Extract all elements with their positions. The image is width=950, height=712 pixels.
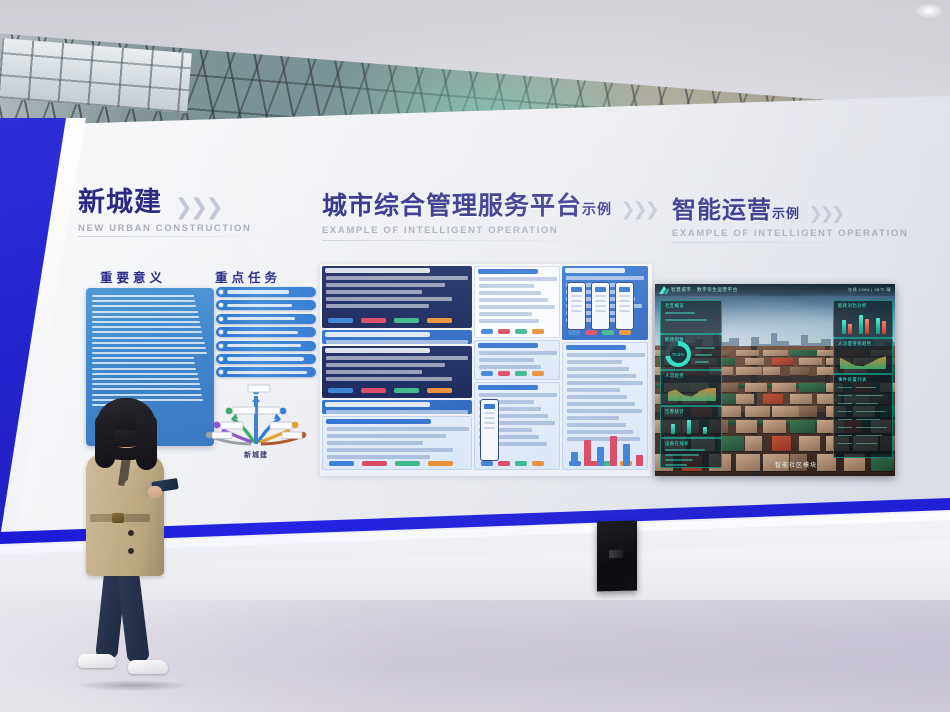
text-line	[92, 352, 207, 354]
phone-line	[619, 295, 630, 297]
text-line	[92, 326, 201, 328]
tile-content-row	[326, 276, 468, 280]
tile-chip	[568, 330, 580, 335]
task-list-item	[216, 327, 316, 337]
city-block	[790, 367, 809, 375]
tile-content-row	[567, 430, 633, 434]
population-area-chart	[840, 353, 886, 369]
tile-content-row	[567, 423, 626, 427]
widget-energy-comparison: 能耗对比分析	[833, 300, 893, 338]
phone-line	[571, 305, 582, 307]
tile-chip	[515, 371, 527, 376]
tile-content-row	[479, 351, 557, 355]
tile-chip	[481, 371, 493, 376]
mini-bar	[623, 444, 630, 466]
event-row-desc	[856, 411, 885, 412]
widget-title: 社区概览	[665, 303, 684, 309]
widget-traffic-flow: 人流趋势	[660, 370, 722, 406]
tile-content-row	[567, 395, 627, 399]
tile-chip	[619, 330, 631, 335]
task-list-item	[216, 314, 316, 324]
mini-bar	[610, 436, 617, 466]
tile-content-row	[326, 356, 468, 360]
gauge-legend-row	[695, 354, 712, 356]
text-line	[92, 383, 200, 385]
tile-title-bar	[325, 348, 430, 353]
widget-title: 告警统计	[665, 409, 684, 415]
phone-line	[571, 295, 582, 297]
traffic-area-chart	[668, 385, 716, 401]
arrow-roadmap-diagram: 新城建	[196, 382, 316, 460]
heading-divider	[78, 236, 278, 237]
event-row-time	[838, 419, 852, 420]
tile-title-bar	[325, 402, 430, 407]
tile-chip	[532, 461, 544, 466]
event-row-time	[838, 435, 852, 436]
phone-line	[484, 412, 495, 414]
tile-content-row	[479, 365, 541, 369]
stage-speaker	[597, 520, 637, 591]
board-tile-integrated-management-platform-overview	[474, 340, 560, 380]
device-row	[665, 459, 693, 461]
tile-chip	[427, 318, 452, 323]
tile-chip	[532, 329, 544, 334]
metric-row	[665, 319, 707, 321]
phone-line	[484, 417, 495, 419]
tile-content-row	[479, 393, 557, 397]
heading-en-text: NEW URBAN CONSTRUCTION	[78, 223, 251, 234]
section-title-key-tasks: 重点任务	[215, 267, 281, 286]
tile-content-row	[326, 297, 452, 301]
energy-bar	[848, 324, 852, 334]
ceiling-spotlight-icon	[916, 4, 942, 18]
alarm-bar	[687, 420, 691, 434]
energy-bar	[842, 320, 846, 334]
energy-bar	[882, 321, 886, 334]
tile-content-row	[567, 416, 619, 420]
tile-content-row	[479, 298, 548, 302]
city-block	[736, 420, 757, 433]
event-row-desc	[856, 395, 883, 396]
widget-title: 事件处置列表	[838, 377, 867, 383]
city-block	[790, 350, 817, 356]
person-hair-left	[95, 414, 115, 468]
gauge-value: 76.5%	[665, 341, 691, 367]
phone-line	[619, 300, 630, 302]
widget-title: 人流量变化趋势	[838, 341, 872, 347]
tile-content-row	[567, 409, 642, 413]
city-block	[799, 383, 825, 392]
tile-content-row	[479, 305, 555, 309]
device-row	[665, 454, 699, 456]
phone-line	[595, 305, 606, 307]
text-line	[92, 388, 201, 390]
gauge-legend-row	[695, 347, 715, 349]
dashboard-status-text: 在线 1284 | 28℃ 晴	[848, 287, 891, 293]
event-row-time	[838, 411, 852, 412]
tile-chip	[328, 388, 353, 393]
tile-chip	[428, 461, 453, 466]
tile-chip	[532, 371, 544, 376]
event-row-desc	[856, 435, 882, 436]
roadmap-arrows-icon	[196, 382, 316, 452]
person-hair-right	[136, 414, 157, 470]
tile-content-row	[567, 360, 622, 364]
mini-bar	[597, 447, 604, 466]
heading-divider	[322, 240, 612, 241]
text-line	[92, 321, 200, 323]
tile-content-row	[479, 312, 532, 316]
phone-mockup	[567, 282, 586, 330]
city-block	[799, 436, 820, 451]
tile-chip	[395, 461, 420, 466]
text-line	[92, 368, 196, 370]
board-tile-data-statistics-panel	[562, 342, 648, 470]
phone-line	[619, 310, 630, 312]
tile-chip	[585, 330, 597, 335]
gauge-legend-row	[695, 361, 709, 363]
chevron-right-icon: ❯❯❯	[808, 204, 842, 224]
widget-title: 能耗对比分析	[838, 303, 867, 309]
phone-line	[571, 310, 582, 312]
heading-en-text: EXAMPLE OF INTELLIGENT OPERATION	[322, 225, 657, 236]
city-block	[736, 350, 759, 356]
board-tile-mobile-service-platform	[562, 266, 648, 340]
tile-chip	[362, 461, 387, 466]
platform-logo-icon	[659, 286, 669, 294]
task-list-item	[216, 354, 316, 364]
tile-title-bar	[565, 268, 625, 273]
led-dashboard-screen: 智慧城市 · 数字孪生运营平台 在线 1284 | 28℃ 晴 社区概览能耗指数…	[655, 284, 895, 476]
text-line	[92, 295, 194, 297]
phone-mockup	[591, 282, 610, 330]
person-coat-button	[128, 548, 134, 554]
tile-content-row	[326, 370, 422, 374]
tile-content-row	[479, 358, 534, 362]
text-line	[92, 378, 199, 380]
tile-content-row	[326, 340, 468, 344]
tile-content-row	[326, 377, 452, 381]
task-list-item	[216, 367, 316, 377]
board-tile-smart-city-operation-center	[474, 266, 560, 338]
section-title-significance: 重要意义	[100, 267, 166, 286]
tile-title-bar	[478, 343, 538, 348]
board-tile-framework-diagram	[322, 266, 472, 328]
screen-caption: 智能社区模块	[775, 460, 817, 469]
heading-new-urban-construction: 新城建 ❯❯❯ NEW URBAN CONSTRUCTION	[78, 180, 251, 234]
phone-mockup	[480, 399, 499, 461]
tile-content-row	[479, 319, 539, 323]
city-block	[772, 358, 793, 365]
tile-content-row	[567, 402, 635, 406]
city-block	[799, 406, 817, 417]
heading-intelligent-operation: 智能运营示例 ❯❯❯ EXAMPLE OF INTELLIGENT OPERAT…	[672, 190, 908, 239]
person-leg-front	[116, 565, 150, 663]
widget-event-list: 事件处置列表	[833, 374, 893, 458]
city-block	[790, 420, 815, 433]
text-line	[92, 300, 195, 302]
heading-divider	[672, 242, 894, 243]
phone-line	[484, 422, 495, 424]
heading-city-management-platform: 城市综合管理服务平台示例 ❯❯❯ EXAMPLE OF INTELLIGENT …	[322, 186, 657, 236]
event-row-time	[838, 443, 852, 444]
mini-bar	[571, 452, 578, 466]
tile-title-bar	[566, 345, 626, 350]
tile-title-bar	[478, 385, 538, 390]
event-row-desc	[856, 387, 876, 388]
tile-chip	[427, 388, 452, 393]
task-list-item	[216, 300, 316, 310]
tile-chip	[498, 329, 510, 334]
event-row-time	[838, 403, 852, 404]
widget-alarm-statistics: 告警统计	[660, 406, 722, 438]
city-block	[763, 367, 780, 375]
tile-chip	[329, 461, 354, 466]
diagram-center-label: 新城建	[196, 450, 316, 460]
alarm-bar	[703, 427, 707, 434]
tile-content-row	[326, 283, 445, 287]
energy-bar	[859, 315, 863, 334]
tile-chip	[481, 329, 493, 334]
city-block	[736, 367, 762, 375]
widget-device-status: 设备在线率	[660, 438, 722, 468]
text-line	[92, 362, 195, 364]
energy-bar	[865, 319, 869, 334]
phone-line	[571, 300, 582, 302]
tile-chip	[361, 388, 386, 393]
chevron-right-icon: ❯❯❯	[620, 199, 656, 220]
visitor-person	[70, 398, 185, 690]
tile-content-row	[479, 284, 534, 288]
text-line	[92, 394, 202, 396]
person-shadow	[76, 680, 192, 691]
tile-content-row	[327, 441, 423, 445]
city-block	[772, 406, 799, 417]
city-block	[745, 358, 764, 365]
city-block	[745, 383, 767, 392]
text-line	[92, 305, 196, 307]
event-row-time	[838, 387, 852, 388]
tile-content-row	[326, 304, 429, 308]
tile-chip	[498, 461, 510, 466]
text-line	[92, 373, 198, 375]
task-list-item	[216, 287, 316, 297]
person-coat-button	[128, 530, 134, 536]
mini-bar	[584, 440, 591, 466]
city-block	[763, 420, 786, 433]
energy-gauge-icon: 76.5%	[665, 341, 691, 367]
alarm-bar	[671, 424, 675, 434]
tile-content-row	[326, 290, 422, 294]
speaker-badge-icon	[609, 550, 623, 558]
text-line	[92, 347, 206, 349]
tile-content-row	[567, 367, 629, 371]
widget-community-overview: 社区概览	[660, 300, 722, 334]
tile-content-row	[567, 374, 636, 378]
phone-line	[595, 310, 606, 312]
tile-content-row	[327, 448, 453, 452]
person-hand	[148, 486, 162, 498]
city-block	[763, 394, 783, 404]
heading-cn-suffix: 示例	[772, 206, 800, 221]
tile-content-row	[566, 276, 644, 280]
phone-line	[595, 300, 606, 302]
city-block	[745, 406, 770, 417]
board-tile-command-console	[322, 346, 472, 398]
tile-chip	[394, 388, 419, 393]
widget-energy-gauge: 能耗指数76.5%	[660, 334, 722, 370]
key-tasks-list	[216, 287, 316, 381]
tile-chip	[515, 461, 527, 466]
tile-content-row	[326, 363, 445, 367]
tile-content-row	[326, 410, 468, 414]
tile-chip	[498, 371, 510, 376]
tile-content-row	[479, 277, 557, 281]
text-line	[92, 342, 205, 344]
tile-content-row	[327, 434, 446, 438]
phone-line	[595, 295, 606, 297]
board-tile-one-network-unified-management	[322, 330, 472, 344]
event-row-time	[838, 395, 852, 396]
device-row	[665, 449, 705, 451]
person-belt-buckle	[112, 513, 124, 523]
tile-content-row	[479, 291, 541, 295]
event-row-desc	[856, 419, 880, 420]
event-row-desc	[856, 443, 877, 444]
text-line	[92, 331, 202, 333]
phone-line	[619, 305, 630, 307]
tile-content-row	[327, 427, 469, 431]
chevron-right-icon: ❯❯❯	[174, 194, 220, 220]
text-line	[92, 357, 194, 359]
widget-population-trend: 人流量变化趋势	[833, 338, 893, 374]
heading-en-text: EXAMPLE OF INTELLIGENT OPERATION	[672, 228, 908, 239]
tile-content-row	[567, 437, 640, 441]
tile-chip	[515, 329, 527, 334]
heading-cn-suffix: 示例	[582, 201, 612, 217]
tile-title-bar	[325, 332, 430, 337]
tile-chip	[328, 318, 353, 323]
tile-chip	[481, 461, 493, 466]
text-line	[92, 311, 198, 313]
tile-title-bar	[326, 419, 431, 424]
tile-content-row	[567, 381, 643, 385]
board-tile-one-network-handling	[322, 416, 472, 470]
platform-logo-text: 智慧城市 · 数字孪生运营平台	[671, 287, 738, 293]
text-line	[92, 316, 199, 318]
tile-content-row	[327, 455, 430, 459]
city-block	[745, 436, 762, 451]
metric-row	[665, 312, 695, 314]
task-list-item	[216, 341, 316, 351]
city-block	[736, 454, 760, 471]
heading-cn-text: 智能运营	[672, 197, 772, 224]
city-block	[772, 383, 796, 392]
heading-cn-text: 城市综合管理服务平台	[322, 192, 582, 220]
event-row-desc	[856, 427, 887, 428]
person-shoe-back	[78, 654, 116, 668]
text-line	[92, 337, 203, 339]
widget-title: 人流趋势	[665, 373, 684, 379]
person-shoe-front	[128, 660, 168, 674]
energy-bar	[876, 318, 880, 334]
tile-title-bar	[325, 268, 430, 273]
tile-chip	[394, 318, 419, 323]
device-row	[665, 464, 687, 466]
city-block	[763, 350, 788, 356]
board-tile-video-monitoring	[322, 400, 472, 414]
widget-title: 设备在线率	[665, 441, 689, 447]
center-poster-board	[320, 264, 652, 476]
mini-bar	[636, 455, 643, 466]
board-tile-mobile-app-one-stop	[474, 382, 560, 470]
tile-content-row	[567, 353, 645, 357]
city-block	[799, 358, 822, 365]
tile-chip	[361, 318, 386, 323]
city-block	[790, 394, 812, 404]
city-block	[772, 436, 791, 451]
heading-cn-text: 新城建	[78, 187, 162, 217]
event-row-time	[838, 427, 852, 428]
exhibition-hall-scene: 新城建 ❯❯❯ NEW URBAN CONSTRUCTION 城市综合管理服务平…	[0, 0, 950, 712]
tile-chip	[602, 330, 614, 335]
tile-title-bar	[478, 269, 538, 274]
phone-line	[484, 427, 495, 429]
tile-content-row	[567, 388, 620, 392]
city-block	[736, 394, 754, 404]
event-row-desc	[856, 403, 878, 404]
phone-mockup	[615, 282, 634, 330]
